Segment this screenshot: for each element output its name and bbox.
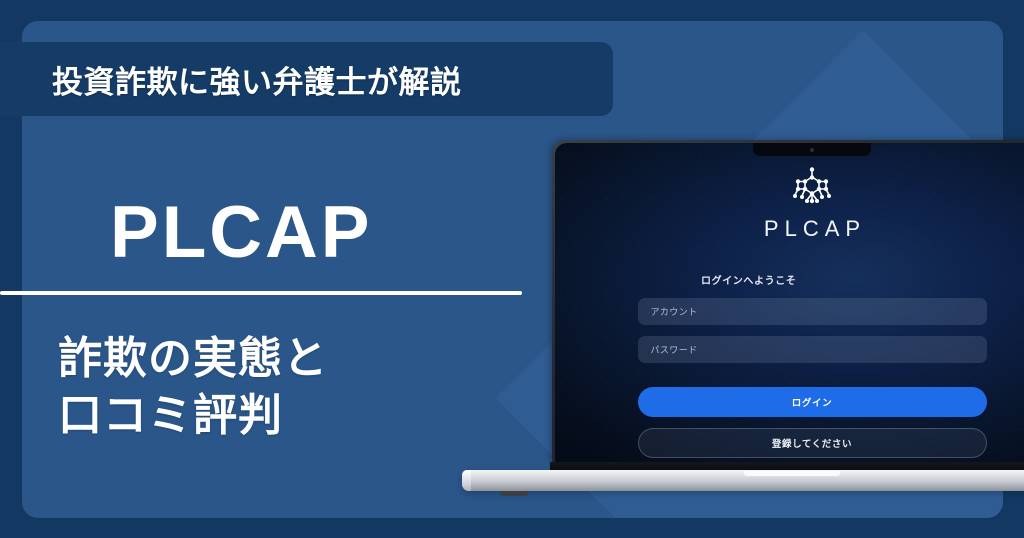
password-input-placeholder: パスワード <box>651 343 698 356</box>
login-form: PLCAP ログインへようこそ アカウント パスワード ログイン 登録してくださ… <box>555 143 1024 464</box>
brand-wordmark: PLCAP <box>110 196 372 269</box>
laptop-screen: PLCAP ログインへようこそ アカウント パスワード ログイン 登録してくださ… <box>555 143 1024 464</box>
laptop-lid: PLCAP ログインへようこそ アカウント パスワード ログイン 登録してくださ… <box>552 140 1024 464</box>
screen-logo-wordmark: PLCAP <box>758 216 866 242</box>
account-input[interactable]: アカウント <box>638 298 987 325</box>
login-button[interactable]: ログイン <box>638 387 987 417</box>
register-button[interactable]: 登録してください <box>638 428 987 458</box>
eyebrow-band: 投資詐欺に強い弁護士が解説 <box>0 42 613 116</box>
eyebrow-text: 投資詐欺に強い弁護士が解説 <box>52 57 462 102</box>
laptop-device: PLCAP ログインへようこそ アカウント パスワード ログイン 登録してくださ… <box>552 140 1024 538</box>
laptop-base-notch <box>744 471 840 476</box>
laptop-base <box>462 470 1024 491</box>
account-input-placeholder: アカウント <box>651 305 698 318</box>
headline-line-2: 口コミ評判 <box>58 387 328 444</box>
headline-line-1: 詐欺の実態と <box>58 334 328 383</box>
headline: 詐欺の実態と 口コミ評判 <box>58 330 328 444</box>
banner-image: 投資詐欺に強い弁護士が解説 PLCAP 詐欺の実態と 口コミ評判 <box>0 0 1024 538</box>
plcap-molecule-logo-icon <box>790 167 834 207</box>
divider-rule <box>0 291 522 295</box>
password-input[interactable]: パスワード <box>638 336 987 363</box>
welcome-heading: ログインへようこそ <box>701 272 796 287</box>
laptop-base-left-edge <box>462 470 471 491</box>
laptop-base-foot <box>500 491 528 496</box>
